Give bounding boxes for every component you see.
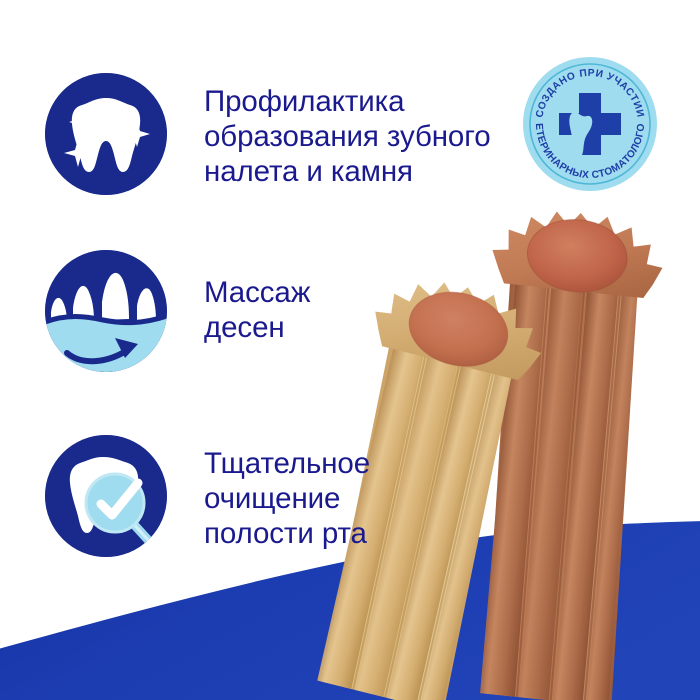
feature-label: Профилактика образования зубного налета … [204,73,491,189]
feature-label: Тщательное очищение полости рта [204,435,370,551]
feature-label: Массаж десен [204,250,310,345]
sparkling-tooth-icon [45,73,167,195]
feature-thorough-cleaning: Тщательное очищение полости рта [45,435,370,557]
promo-banner: Профилактика образования зубного налета … [0,0,700,700]
tooth-magnifier-check-icon [45,435,167,557]
gum-massage-icon [45,250,167,372]
feature-plaque-prevention: Профилактика образования зубного налета … [45,73,491,195]
dark-chew-stick [446,204,667,700]
veterinary-dentists-badge: СОЗДАНО ПРИ УЧАСТИИ ВЕТЕРИНАРНЫХ СТОМАТО… [523,57,657,191]
feature-gum-massage: Массаж десен [45,250,310,372]
